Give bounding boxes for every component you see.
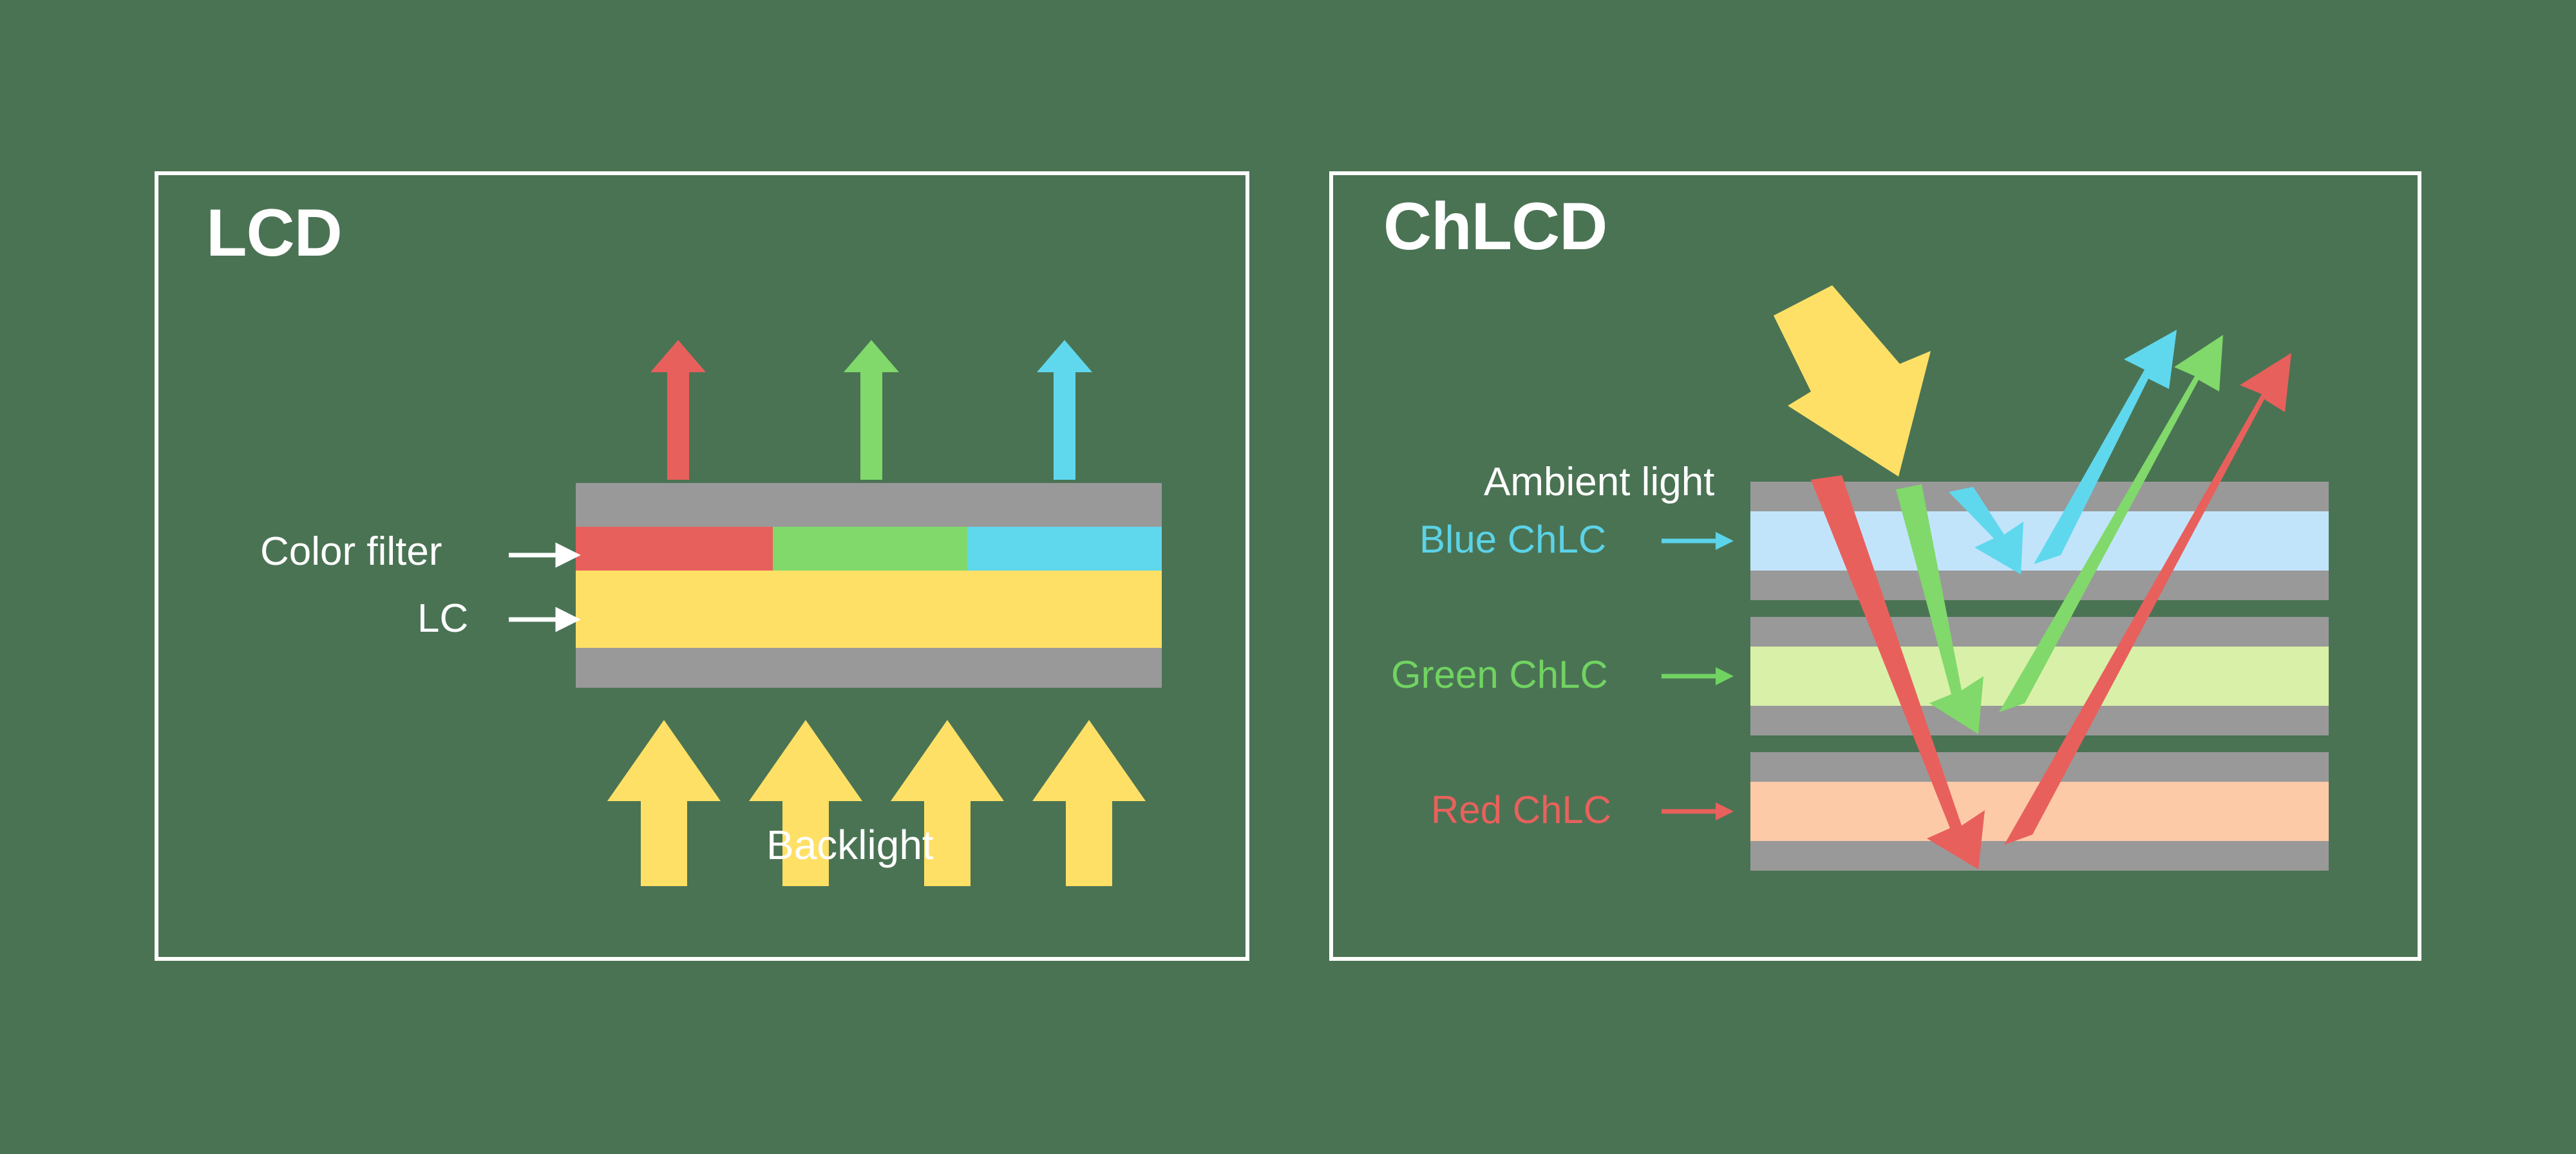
green-leader-head — [1716, 667, 1734, 685]
chlcd-cell-green — [1750, 617, 2329, 735]
red-cell-bottom-substrate — [1750, 841, 2329, 871]
label-red-chlc: Red ChLC — [1431, 791, 1611, 829]
green-cell-top-substrate — [1750, 617, 2329, 647]
chlcd-graphics — [0, 0, 2576, 1154]
label-ambient-light: Ambient light — [1484, 462, 1714, 502]
ambient-light-arrow — [1774, 285, 1931, 477]
red-cell-top-substrate — [1750, 752, 2329, 782]
red-leader-head — [1716, 802, 1734, 820]
green-cell-bottom-substrate — [1750, 706, 2329, 735]
label-green-chlc: Green ChLC — [1391, 656, 1608, 694]
blue-cell-bottom-substrate — [1750, 571, 2329, 600]
chlcd-label-arrows — [1662, 532, 1734, 820]
ambient-light-arrow-group — [1774, 285, 1931, 477]
blue-leader-head — [1716, 532, 1734, 550]
diagram-canvas: LCD Colo — [0, 0, 2576, 1154]
label-blue-chlc: Blue ChLC — [1419, 520, 1606, 559]
